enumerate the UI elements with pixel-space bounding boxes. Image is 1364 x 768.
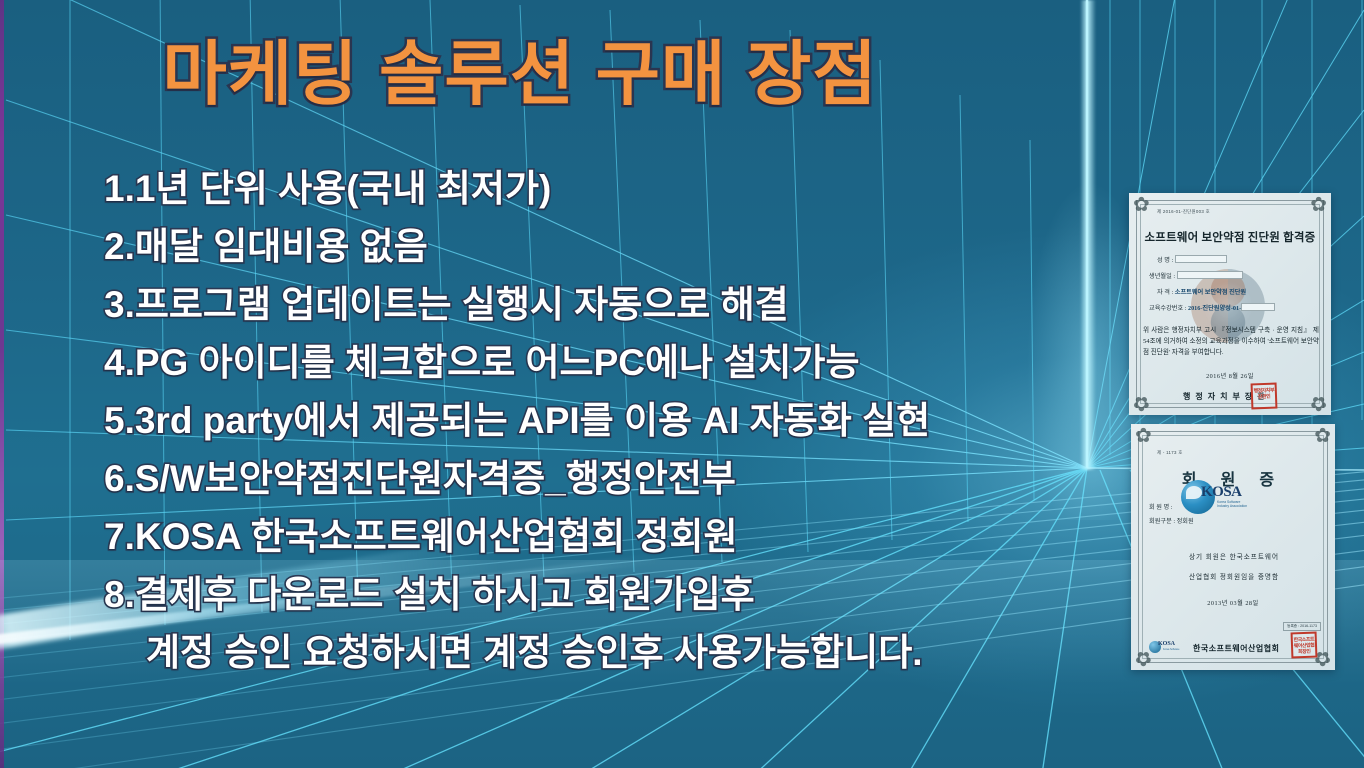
kosa-logo-subtitle: Korea Software (1163, 648, 1179, 651)
list-item: 6.S/W보안약점진단원자격증_행정안전부 (104, 450, 1084, 508)
kosa-wordmark: KOSA (1158, 641, 1175, 647)
kosa-logo-icon: KOSA Korea Software Industry Association (1181, 478, 1225, 518)
certificate-number: 제 2016-01-진단원003 호 (1157, 209, 1210, 215)
list-item: 1.1년 단위 사용(국내 최저가) (104, 160, 1084, 218)
certificate-number: 제 - 1173 호 (1157, 450, 1183, 456)
registration-box: 등록증 : 2016-1173 (1283, 622, 1321, 631)
certificate-issuer: 한국소프트웨어산업협회 (1193, 643, 1279, 654)
list-item: 7.KOSA 한국소프트웨어산업협회 정회원 (104, 508, 1084, 566)
field-birthdate: 생년월일 : (1149, 271, 1243, 280)
certificate-body-line-2: 산업협회 정회원임을 증명함 (1145, 572, 1323, 583)
benefits-list: 1.1년 단위 사용(국내 최저가) 2.매달 임대비용 없음 3.프로그램 업… (104, 160, 1084, 682)
list-item: 3.프로그램 업데이트는 실행시 자동으로 해결 (104, 276, 1084, 334)
field-course-number: 교육수강번호 : 2016-진단원양성-01- (1149, 303, 1275, 312)
list-item: 8.결제후 다운로드 설치 하시고 회원가입후 (104, 566, 1084, 624)
certificate-body-line-1: 상기 회원은 한국소프트웨어 (1145, 552, 1323, 563)
presentation-slide: 마케팅 솔루션 구매 장점 1.1년 단위 사용(국내 최저가) 2.매달 임대… (0, 0, 1364, 768)
list-item-continuation: 계정 승인 요청하시면 계정 승인후 사용가능합니다. (104, 624, 1084, 682)
field-member-name: 회 원 명 : (1149, 502, 1172, 511)
page-title: 마케팅 솔루션 구매 장점 (0, 18, 1040, 119)
certificate-date: 2013년 03월 28일 (1131, 598, 1335, 607)
kosa-footer-logo-icon: KOSA Korea Software (1149, 640, 1189, 654)
certificate-title: 소프트웨어 보안약점 진단원 합격증 (1129, 229, 1331, 245)
official-seal-icon: 한국소프트웨어산업협회장인 (1291, 632, 1318, 659)
certificate-date: 2016년 8월 26일 (1129, 371, 1331, 380)
official-seal-icon: 행정자치부장관인 (1251, 383, 1278, 410)
redacted-value (1175, 255, 1227, 263)
list-item: 5.3rd party에서 제공되는 API를 이용 AI 자동화 실현 (104, 392, 1084, 450)
redacted-value (1177, 271, 1243, 279)
list-item: 2.매달 임대비용 없음 (104, 218, 1084, 276)
certificate-body-text: 위 사람은 행정자치부 고시 『정보시스템 구축 · 운영 지침』 제54조에 … (1143, 325, 1319, 358)
field-member-type: 회원구분 : 정회원 (1149, 516, 1194, 525)
kosa-logo-subtitle: Korea Software Industry Association (1217, 500, 1247, 508)
certificate-software-security-diagnostician: ✿ ✿ ✿ ✿ 제 2016-01-진단원003 호 소프트웨어 보안약점 진단… (1129, 193, 1331, 415)
certificate-kosa-membership: ✿ ✿ ✿ ✿ 제 - 1173 호 회 원 증 KOSA Korea Soft… (1131, 424, 1335, 670)
list-item: 4.PG 아이디를 체크함으로 어느PC에나 설치가능 (104, 334, 1084, 392)
field-qualification: 자 격 : 소프트웨어 보안약점 진단원 (1157, 287, 1246, 296)
field-name: 성 명 : (1157, 255, 1227, 264)
kosa-wordmark: KOSA (1201, 484, 1242, 501)
redacted-value (1241, 303, 1275, 311)
